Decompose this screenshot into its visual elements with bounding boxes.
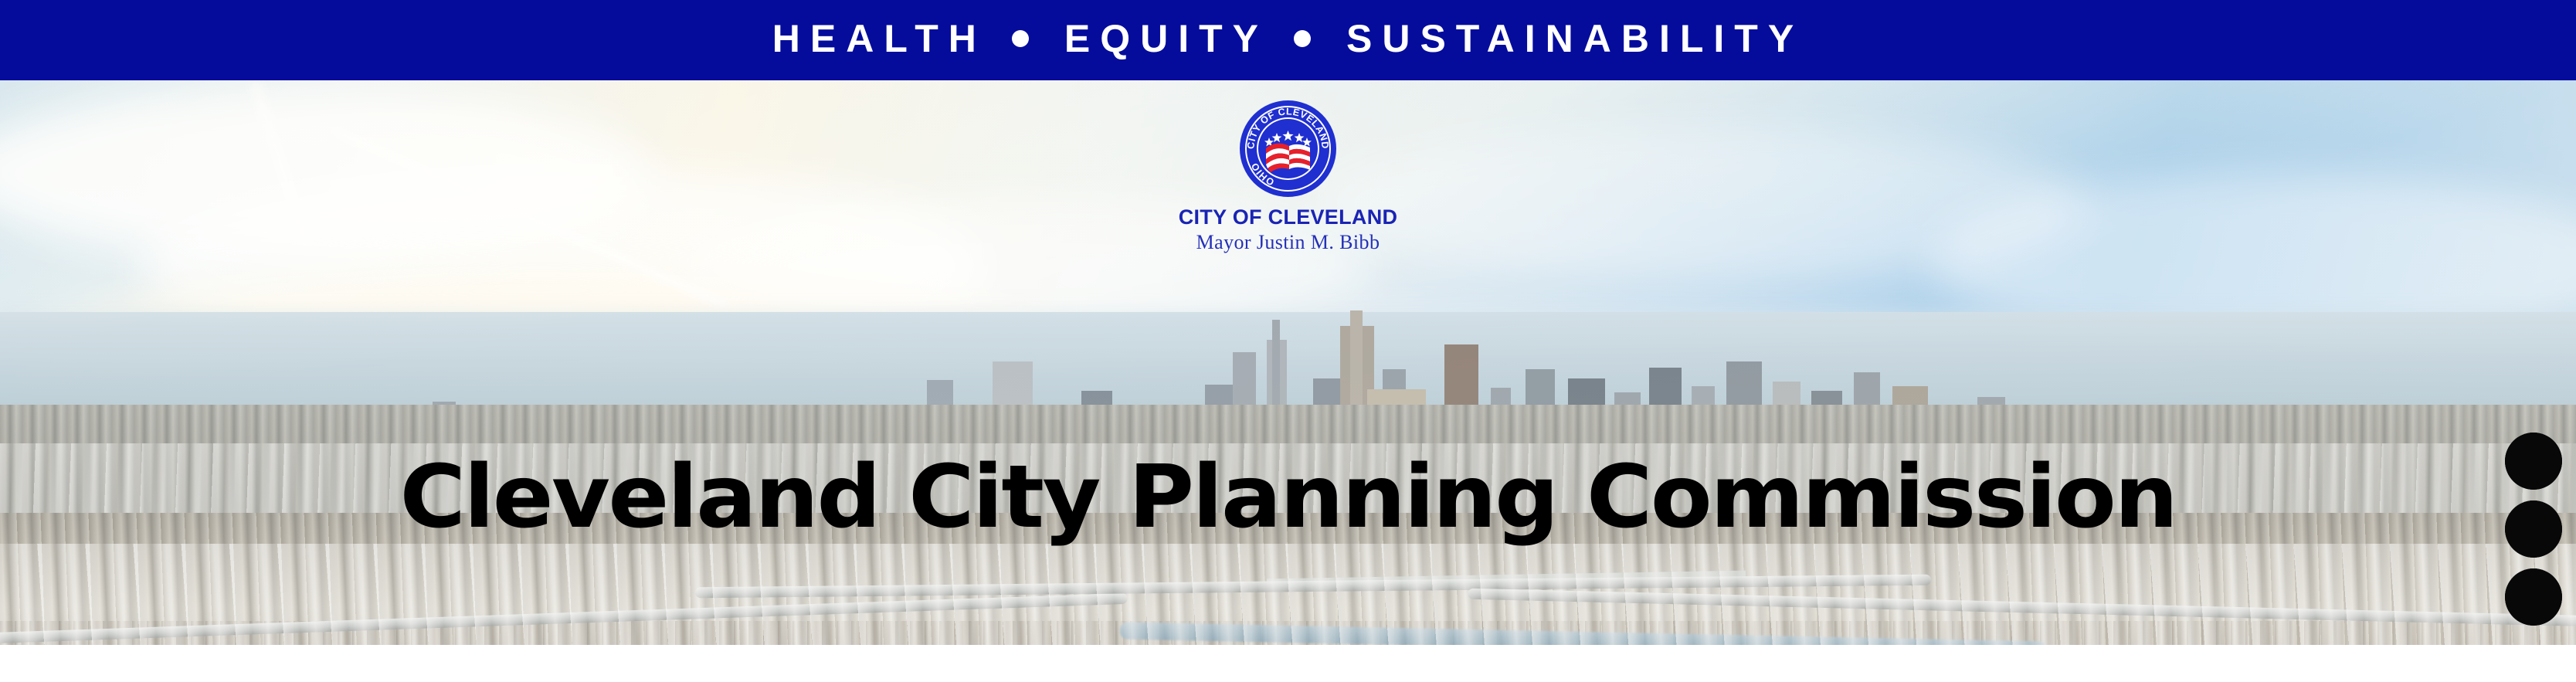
tagline-banner-inner: HEALTH EQUITY SUSTAINABILITY (772, 19, 1804, 58)
bottom-white-strip (0, 645, 2576, 682)
snow-cover (0, 544, 2576, 645)
city-of-cleveland-seal-icon: CITY OF CLEVELAND OHIO (1240, 100, 1336, 197)
seal-waving-flag (1266, 144, 1310, 172)
seal-inner-disc (1257, 117, 1319, 180)
youtube-link[interactable] (2505, 433, 2562, 490)
mayor-name: Mayor Justin M. Bibb (1196, 232, 1380, 253)
social-links (2505, 433, 2562, 626)
tagline-word-equity: EQUITY (1064, 19, 1268, 58)
city-branding-block: CITY OF CLEVELAND OHIO (0, 100, 2576, 253)
tagline-word-health: HEALTH (772, 19, 986, 58)
tagline-banner: HEALTH EQUITY SUSTAINABILITY (0, 0, 2576, 80)
facebook-icon (2505, 568, 2562, 626)
youtube-icon (2505, 433, 2562, 490)
page-root: HEALTH EQUITY SUSTAINABILITY (0, 0, 2576, 682)
seal-stars (1264, 131, 1312, 147)
tagline-bullet-icon-1 (1012, 30, 1029, 47)
page-title: Cleveland City Planning Commission (0, 454, 2576, 541)
instagram-icon (2505, 500, 2562, 558)
organization-name: CITY OF CLEVELAND (1179, 206, 1398, 228)
instagram-link[interactable] (2505, 500, 2562, 558)
seal-flag-and-stars-icon (1258, 119, 1318, 178)
tagline-word-sustainability: SUSTAINABILITY (1346, 19, 1804, 58)
tagline-bullet-icon-2 (1294, 30, 1311, 47)
facebook-link[interactable] (2505, 568, 2562, 626)
